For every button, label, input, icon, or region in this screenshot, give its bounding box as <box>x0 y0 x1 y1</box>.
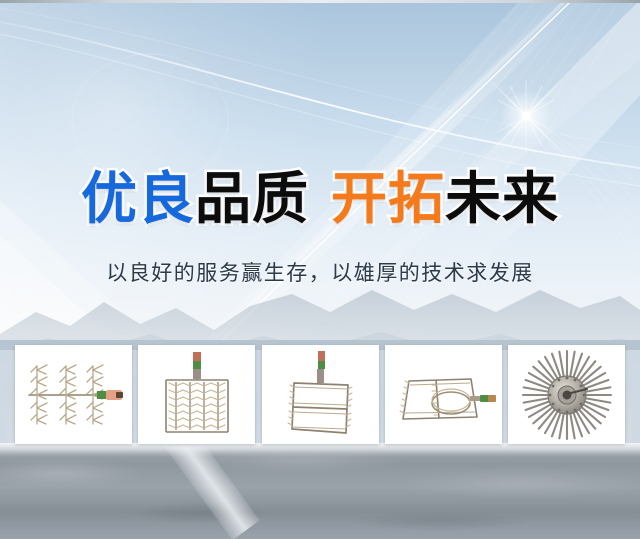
product-card-row: 梳状耙形金属工具 <box>15 345 625 444</box>
top-edge-line <box>0 0 640 3</box>
subtitle: 以良好的服务赢生存，以雄厚的技术求发展 <box>0 258 640 288</box>
promo-banner: 优良品质开拓未来 以良好的服务赢生存，以雄厚的技术求发展 梳状耙形金属工具 <box>0 0 640 539</box>
concrete-ground <box>0 443 640 539</box>
product-card-2[interactable]: 双排针刺架 <box>138 345 255 444</box>
subtitle-text: 以良好的服务赢生存，以雄厚的技术求发展 <box>106 258 534 288</box>
headline-segment-3: 开拓 <box>331 168 445 232</box>
headline-segment-2: 品质 <box>195 168 309 232</box>
headline: 优良品质开拓未来 <box>0 168 640 232</box>
comb-rake-tool-icon <box>21 352 126 437</box>
lens-flare-starburst-icon <box>466 56 586 176</box>
ground-texture <box>0 443 640 539</box>
radial-spike-wheel-icon <box>521 349 613 441</box>
double-row-spike-rack-icon <box>152 350 242 440</box>
headline-segment-1: 优良 <box>81 168 195 232</box>
product-card-1[interactable]: 梳状耙形金属工具 <box>15 345 132 444</box>
product-card-5[interactable]: 放射状针轮 <box>508 345 625 444</box>
product-card-4[interactable]: 带圆环平板框架 <box>385 345 502 444</box>
headline-segment-4: 未来 <box>445 168 559 232</box>
headline-text: 优良品质开拓未来 <box>81 168 559 232</box>
flat-frame-with-ring-icon <box>389 355 497 435</box>
rectangular-wire-frame-icon <box>276 349 364 441</box>
product-card-3[interactable]: 长方形网架 <box>262 345 379 444</box>
